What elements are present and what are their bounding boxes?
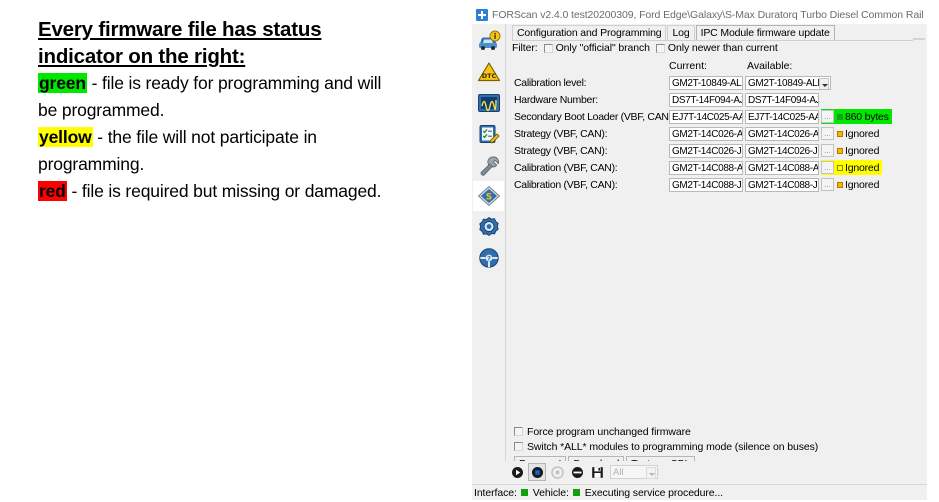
row-available-value: EJ7T-14C025-AA	[745, 110, 819, 124]
chevron-down-icon[interactable]	[819, 78, 829, 90]
checkbox-switch-all-modules[interactable]	[514, 442, 523, 451]
programming-icon: S	[477, 185, 501, 207]
record-button[interactable]	[568, 463, 586, 481]
option-force-program[interactable]: Force program unchanged firmware	[514, 424, 914, 439]
row-current-value: GM2T-14C026-AJF	[669, 127, 743, 141]
service-wrench-icon	[477, 154, 501, 176]
table-row: Strategy (VBF, CAN): GM2T-14C026-AJF GM2…	[514, 125, 924, 142]
module-config-gear-icon	[477, 216, 501, 238]
table-row: Calibration (VBF, CAN): GM2T-14C088-JF G…	[514, 176, 924, 193]
table-row: Calibration (VBF, CAN): GM2T-14C088-AJF …	[514, 159, 924, 176]
tab-strip: Configuration and Programming Log IPC Mo…	[512, 26, 836, 41]
row-label: Strategy (VBF, CAN):	[514, 128, 669, 140]
record-icon	[571, 466, 584, 479]
row-current-value: GM2T-14C088-JF	[669, 178, 743, 192]
grid-header-row: Current: Available:	[514, 58, 924, 74]
browse-button[interactable]: ...	[821, 110, 834, 123]
sidebar-item-steering[interactable]: ?	[473, 243, 504, 273]
row-current-value: GM2T-14C026-JF	[669, 144, 743, 158]
row-label: Strategy (VBF, CAN):	[514, 145, 669, 157]
explanation-heading-line2: indicator on the right:	[38, 43, 458, 70]
chevron-down-icon[interactable]	[646, 467, 656, 479]
filter-label: Filter:	[512, 42, 538, 54]
svg-text:S: S	[485, 193, 491, 203]
row-status: ... Ignored	[821, 143, 882, 158]
row-status-text: Ignored	[845, 179, 879, 191]
sidebar-item-vehicle-info[interactable]	[473, 26, 504, 56]
legend-item-green: green - file is ready for programming an…	[38, 70, 458, 97]
status-interface-label: Interface:	[474, 487, 517, 499]
grid-header-current: Current:	[669, 60, 747, 72]
table-row: Hardware Number: DS7T-14F094-AJA DS7T-14…	[514, 91, 924, 108]
legend-text-yellow-cont: programming.	[38, 151, 458, 178]
row-status: ... Ignored	[821, 126, 882, 141]
vehicle-status-led	[573, 489, 580, 496]
refresh-icon	[551, 466, 564, 479]
sidebar-icon-rail: DTC	[472, 24, 505, 479]
status-vehicle-label: Vehicle:	[533, 487, 569, 499]
legend-item-yellow: yellow - the file will not participate i…	[38, 124, 458, 151]
status-message: Executing service procedure...	[585, 487, 723, 499]
option-force-program-label: Force program unchanged firmware	[527, 426, 691, 438]
panel-scroll-gutter[interactable]	[913, 26, 925, 416]
firmware-grid: Current: Available: Calibration level: G…	[514, 58, 924, 193]
row-status-text: Ignored	[845, 162, 879, 174]
grid-header-available: Available:	[747, 60, 825, 72]
panel-scroll-tick	[913, 38, 925, 40]
sidebar-item-oscilloscope[interactable]	[473, 88, 504, 118]
tab-configuration-and-programming[interactable]: Configuration and Programming	[512, 25, 666, 41]
browse-button[interactable]: ...	[821, 178, 834, 191]
status-marker-orange-icon	[837, 182, 843, 188]
legend-key-red: red	[38, 181, 67, 201]
filter-row: Filter: Only "official" branch Only newe…	[512, 42, 778, 54]
option-switch-all-modules[interactable]: Switch *ALL* modules to programming mode…	[514, 439, 914, 454]
sidebar-item-tests[interactable]	[473, 119, 504, 149]
test-checklist-icon	[477, 123, 501, 145]
browse-button[interactable]: ...	[821, 127, 834, 140]
browse-button[interactable]: ...	[821, 144, 834, 157]
sidebar-item-programming[interactable]: S	[473, 181, 504, 211]
row-label: Calibration (VBF, CAN):	[514, 179, 669, 191]
checkbox-only-newer-than-current[interactable]	[656, 44, 665, 53]
row-status-text: Ignored	[845, 128, 879, 140]
tab-ipc-module-firmware-update[interactable]: IPC Module firmware update	[696, 25, 835, 41]
legend-text-green-cont: be programmed.	[38, 97, 458, 124]
dtc-warning-icon: DTC	[477, 61, 501, 83]
option-switch-all-modules-label: Switch *ALL* modules to programming mode…	[527, 441, 818, 453]
checkbox-only-official-branch[interactable]	[544, 44, 553, 53]
row-current-value: GM2T-10849-ALF	[669, 76, 743, 90]
disconnect-icon	[531, 466, 544, 479]
row-available-value: GM2T-14C088-AJF	[745, 161, 819, 175]
status-bar: Interface: Vehicle: Executing service pr…	[472, 484, 927, 500]
legend-text-red: - file is required but missing or damage…	[67, 181, 382, 201]
row-label: Hardware Number:	[514, 94, 669, 106]
row-status-green: ... 860 bytes	[821, 109, 892, 124]
disconnect-button[interactable]	[528, 463, 546, 481]
forscan-app-icon	[476, 9, 488, 21]
row-current-value: DS7T-14F094-AJA	[669, 93, 743, 107]
window-body: DTC	[472, 24, 927, 479]
refresh-button[interactable]	[548, 463, 566, 481]
row-current-value: EJ7T-14C025-AA	[669, 110, 743, 124]
browse-button[interactable]: ...	[821, 161, 834, 174]
checkbox-force-program[interactable]	[514, 427, 523, 436]
status-marker-orange-icon	[837, 131, 843, 137]
legend-item-red: red - file is required but missing or da…	[38, 178, 458, 205]
toolbar-filter-select[interactable]: All	[610, 465, 658, 479]
row-label: Calibration level:	[514, 77, 669, 89]
vehicle-info-icon	[477, 30, 501, 52]
table-row: Secondary Boot Loader (VBF, CAN): EJ7T-1…	[514, 108, 924, 125]
connect-button[interactable]	[508, 463, 526, 481]
row-available-value: GM2T-10849-ALF	[748, 78, 823, 89]
row-status-text: Ignored	[845, 145, 879, 157]
row-current-value: GM2T-14C088-AJF	[669, 161, 743, 175]
window-title: FORScan v2.4.0 test20200309, Ford Edge\G…	[492, 9, 927, 21]
row-available-value: DS7T-14F094-AJA	[745, 93, 819, 107]
legend-text-green: - file is ready for programming and will	[87, 73, 381, 93]
row-status-yellow: ... Ignored	[821, 160, 882, 175]
connect-icon	[511, 466, 524, 479]
status-marker-green-icon	[837, 114, 843, 120]
oscilloscope-icon	[477, 92, 501, 114]
svg-text:DTC: DTC	[481, 72, 496, 80]
content-panel: Configuration and Programming Log IPC Mo…	[505, 24, 927, 479]
row-label: Calibration (VBF, CAN):	[514, 162, 669, 174]
filter-option-official-label: Only "official" branch	[556, 42, 650, 54]
status-marker-orange-icon	[837, 148, 843, 154]
explanation-heading-line1: Every firmware file has status	[38, 16, 458, 43]
steering-wheel-icon: ?	[477, 247, 501, 269]
row-status-text: 860 bytes	[845, 111, 889, 123]
row-label: Secondary Boot Loader (VBF, CAN):	[514, 111, 669, 123]
row-status: ... Ignored	[821, 177, 882, 192]
status-marker-yellow-icon	[837, 165, 843, 171]
bottom-toolbar: All	[472, 461, 927, 483]
forscan-window: FORScan v2.4.0 test20200309, Ford Edge\G…	[472, 6, 927, 496]
save-button[interactable]	[588, 463, 606, 481]
tab-underline	[512, 40, 924, 41]
toolbar-filter-value: All	[613, 467, 624, 478]
legend-key-green: green	[38, 73, 87, 93]
save-icon	[591, 466, 604, 479]
filter-option-newer-label: Only newer than current	[668, 42, 778, 54]
row-available-value: GM2T-14C026-AJF	[745, 127, 819, 141]
sidebar-item-service[interactable]	[473, 150, 504, 180]
legend-text-yellow: - the file will not participate in	[93, 127, 317, 147]
row-available-value: GM2T-14C026-JF	[745, 144, 819, 158]
table-row: Calibration level: GM2T-10849-ALF GM2T-1…	[514, 74, 924, 91]
row-available-select[interactable]: GM2T-10849-ALF	[745, 76, 831, 90]
sidebar-item-module-config[interactable]	[473, 212, 504, 242]
explanation-block: Every firmware file has status indicator…	[38, 16, 458, 205]
interface-status-led	[521, 489, 528, 496]
window-titlebar: FORScan v2.4.0 test20200309, Ford Edge\G…	[472, 6, 927, 24]
legend-key-yellow: yellow	[38, 127, 93, 147]
svg-text:?: ?	[487, 255, 491, 263]
sidebar-item-dtc[interactable]: DTC	[473, 57, 504, 87]
table-row: Strategy (VBF, CAN): GM2T-14C026-JF GM2T…	[514, 142, 924, 159]
tab-log[interactable]: Log	[667, 25, 694, 41]
row-available-value: GM2T-14C088-JF	[745, 178, 819, 192]
